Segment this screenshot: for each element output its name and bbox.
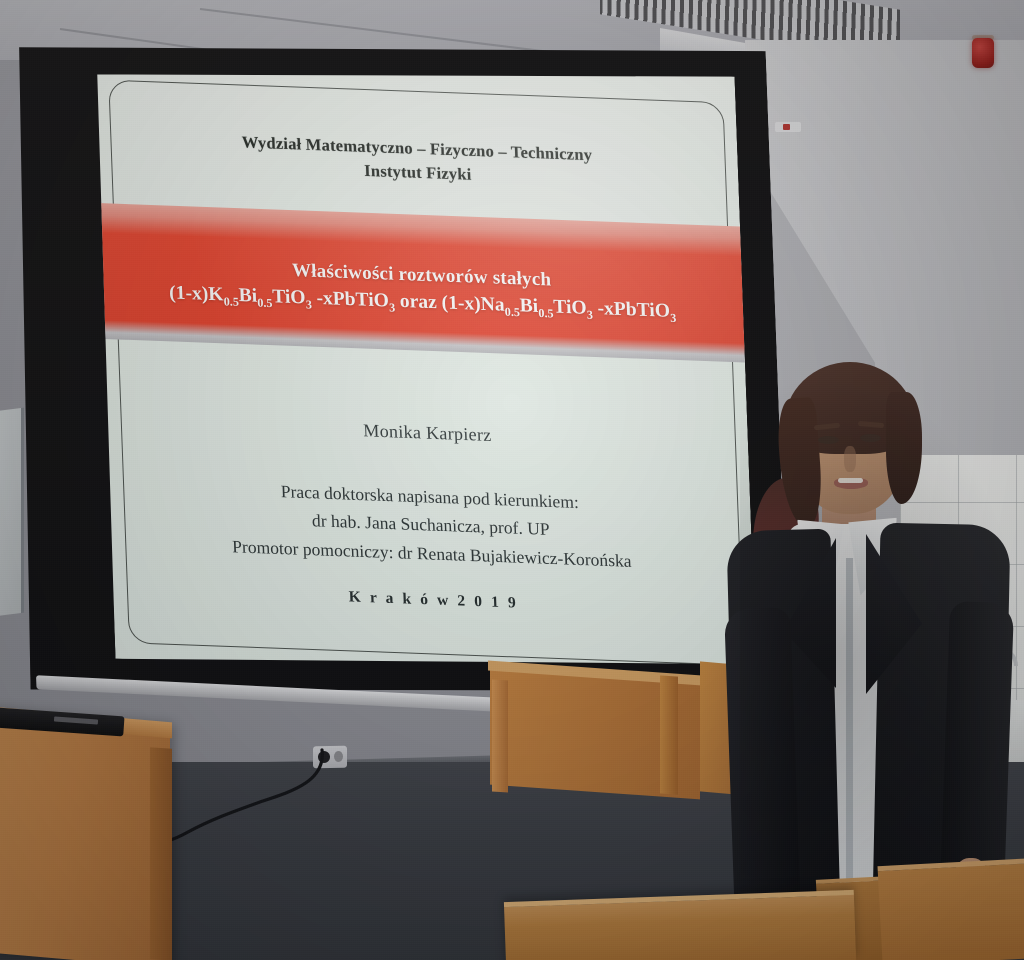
formula-seg: TiO	[553, 297, 587, 319]
projection-screen: Wydział Matematyczno – Fizyczno – Techni…	[6, 20, 803, 748]
formula-seg: Bi	[238, 285, 257, 307]
eye-left	[818, 436, 839, 444]
lecture-room-photo: Wydział Matematyczno – Fizyczno – Techni…	[0, 0, 1024, 960]
wooden-lectern-side	[150, 747, 172, 960]
formula-sub: 0.5	[538, 306, 554, 321]
formula-seg: TiO	[272, 286, 306, 308]
slide-title-band: Właściwości roztworów stałych (1-x)K0.5B…	[99, 203, 745, 362]
nose	[844, 446, 856, 472]
formula-sub: 3	[670, 311, 677, 325]
formula-seg: -xPbTiO	[311, 288, 389, 312]
red-alarm-light-icon	[972, 38, 994, 68]
formula-seg: Bi	[519, 295, 538, 317]
power-cable	[140, 740, 360, 870]
wooden-lectern	[0, 708, 170, 960]
hair-right-strand	[886, 392, 922, 504]
formula-sub: 0.5	[257, 296, 273, 311]
wall-indicator-led-icon	[783, 124, 790, 130]
presentation-slide: Wydział Matematyczno – Fizyczno – Techni…	[93, 53, 756, 682]
formula-seg: -xPbTiO	[592, 298, 670, 322]
foreground-desk-a	[504, 890, 856, 960]
eye-right	[860, 434, 881, 442]
formula-sub: 0.5	[223, 294, 239, 309]
teeth	[838, 478, 863, 483]
wooden-desk-leg	[492, 679, 508, 792]
wooden-desk-leg	[660, 675, 678, 794]
foreground-desk-b	[877, 858, 1024, 960]
formula-seg: oraz (1-x)Na	[395, 291, 505, 316]
formula-sub: 0.5	[505, 305, 521, 320]
formula-seg: (1-x)K	[169, 282, 224, 305]
